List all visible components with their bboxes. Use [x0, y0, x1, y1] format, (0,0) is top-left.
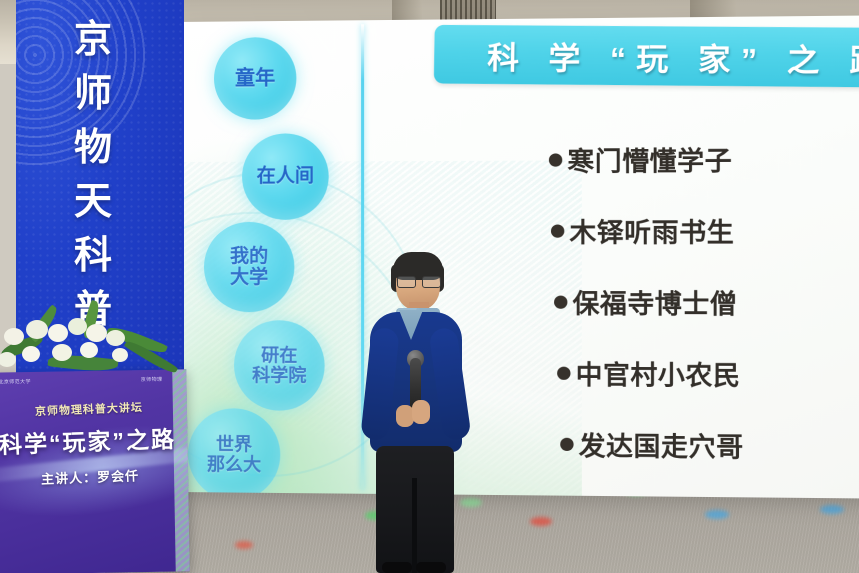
floor-light-spot — [820, 505, 844, 514]
flower — [0, 352, 16, 367]
glasses-icon — [397, 276, 439, 286]
hand-right — [412, 400, 430, 424]
bubble-line: 世界 — [216, 434, 252, 454]
bullet-label: 中官村小农民 — [576, 354, 741, 392]
flower-arrangement — [0, 300, 184, 392]
lectern-lecture-title: 科学“玩家”之路 — [0, 420, 188, 461]
slide-bubble-academy: 研在 科学院 — [234, 320, 325, 411]
bubble-line: 在人间 — [257, 166, 314, 188]
bullet-dot-icon — [549, 153, 562, 166]
slide-bubble-big-world: 世界 那么大 — [188, 408, 280, 499]
slide-title-banner: 科 学 “玩 家” 之 路 — [434, 25, 859, 88]
flower — [52, 344, 72, 361]
banner-char: 物 — [56, 122, 130, 176]
flower — [26, 320, 48, 339]
slide-bubble-among-people: 在人间 — [242, 133, 329, 220]
floor-light-spot — [530, 517, 552, 526]
list-item: 木铎听雨书生 — [551, 194, 859, 266]
bubble-line: 童年 — [235, 67, 275, 90]
slide-title: 科 学 “玩 家” 之 路 — [473, 32, 859, 81]
bubble-line: 那么大 — [207, 454, 261, 475]
bullet-dot-icon — [551, 224, 564, 237]
banner-char: 天 — [56, 176, 130, 230]
bullet-dot-icon — [560, 437, 573, 450]
slide: 童年 在人间 我的 大学 研在 科学院 世界 那么大 科 学 “玩 家” 之 路 — [176, 15, 859, 498]
flower — [68, 318, 87, 335]
banner-char: 师 — [56, 68, 130, 122]
floor-light-spot — [235, 541, 253, 549]
flower — [22, 346, 40, 362]
bullet-label: 木铎听雨书生 — [569, 212, 734, 250]
slide-bubble-my-university: 我的 大学 — [204, 222, 294, 312]
list-item: 中官村小农民 — [557, 337, 859, 410]
shoe — [416, 562, 446, 573]
bullet-dot-icon — [554, 295, 567, 308]
bubble-line: 研在 — [261, 345, 297, 365]
list-item: 保福寺博士僧 — [554, 266, 859, 338]
bubble-line: 我的 — [230, 246, 268, 267]
lecture-photo: 童年 在人间 我的 大学 研在 科学院 世界 那么大 科 学 “玩 家” 之 路 — [0, 0, 859, 573]
bubble-line: 大学 — [230, 267, 268, 288]
bubble-line: 科学院 — [252, 365, 306, 385]
flower — [106, 330, 125, 346]
slide-bubble-childhood: 童年 — [214, 37, 296, 120]
banner-characters: 京 师 物 天 科 普 — [56, 14, 130, 338]
flower — [86, 324, 107, 342]
flower — [4, 328, 24, 345]
floor-light-spot — [705, 510, 729, 519]
flower — [112, 348, 128, 362]
ceiling-vent — [440, 0, 496, 20]
shoe — [382, 562, 412, 573]
glasses-lens — [397, 276, 416, 288]
lectern-sign: 北京师范大学 京师物理 京师物理科普大讲坛 科学“玩家”之路 主讲人：罗会仟 — [0, 369, 190, 573]
flower — [80, 342, 98, 358]
speaker-figure — [352, 250, 470, 573]
leg-separation — [412, 478, 417, 573]
flower — [48, 324, 68, 342]
list-item: 发达国走穴哥 — [560, 408, 859, 482]
slide-bullet-list: 寒门懵懂学子 木铎听雨书生 保福寺博士僧 中官村小农民 发达国走穴哥 — [549, 122, 859, 482]
bullet-label: 发达国走穴哥 — [579, 425, 744, 464]
glasses-lens — [422, 276, 441, 288]
banner-char: 科 — [56, 230, 130, 284]
bullet-dot-icon — [557, 366, 570, 379]
bullet-label: 保福寺博士僧 — [573, 283, 738, 321]
list-item: 寒门懵懂学子 — [549, 122, 859, 195]
projection-screen: 童年 在人间 我的 大学 研在 科学院 世界 那么大 科 学 “玩 家” 之 路 — [176, 15, 859, 498]
bullet-label: 寒门懵懂学子 — [567, 140, 732, 178]
banner-char: 京 — [56, 14, 130, 68]
